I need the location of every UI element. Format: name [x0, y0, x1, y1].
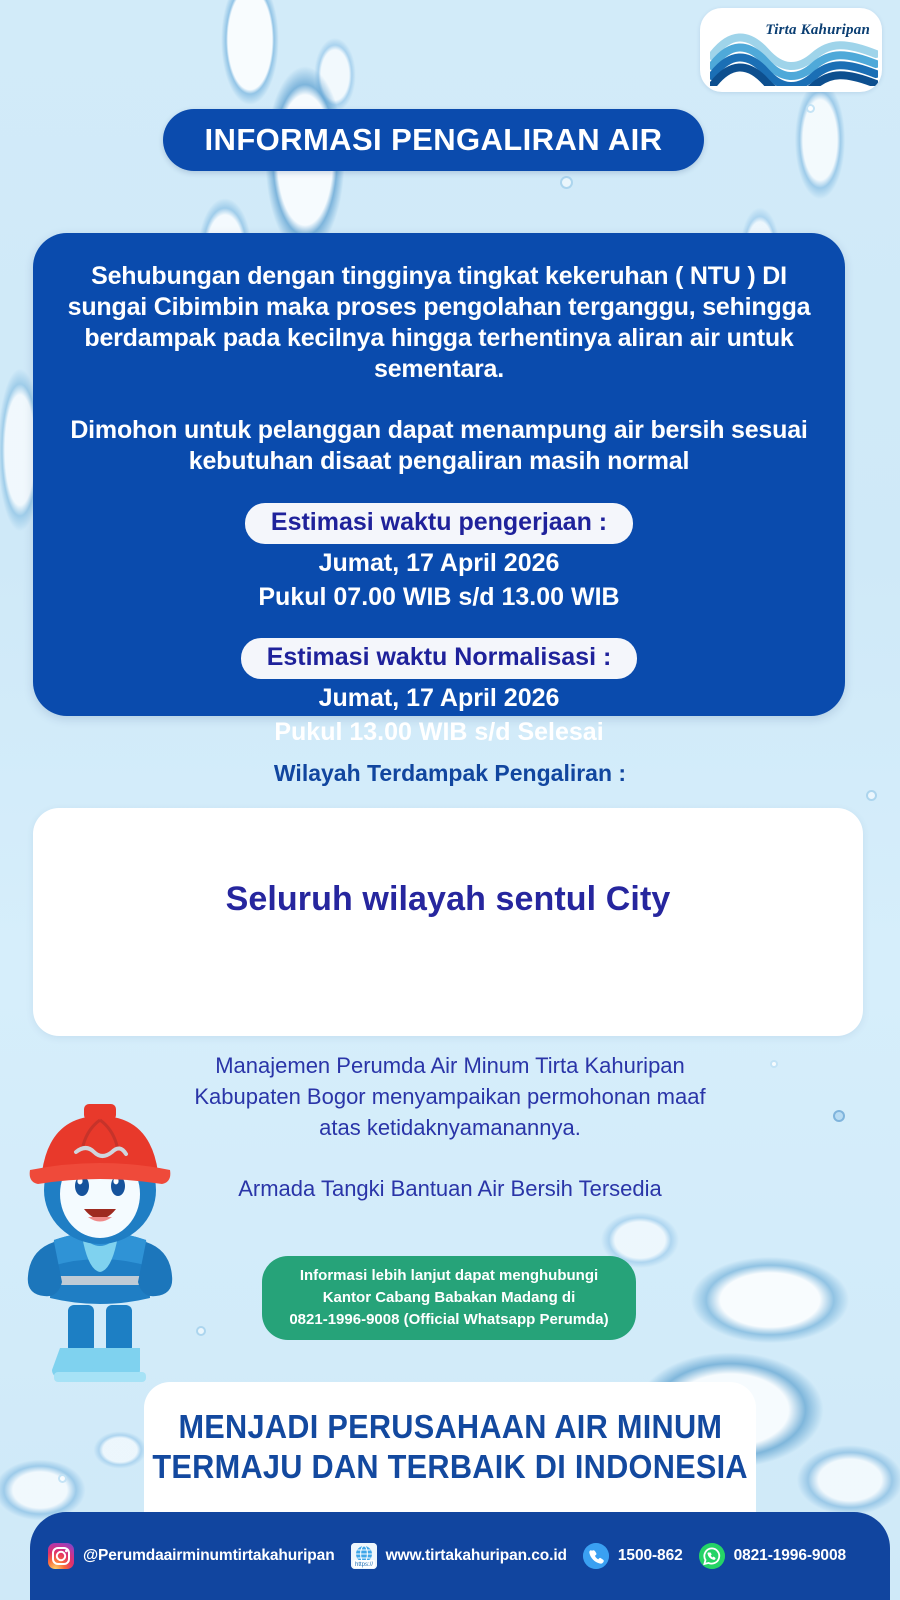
svg-text:https://: https://	[355, 1562, 373, 1568]
slogan-line-1: MENJADI PERUSAHAAN AIR MINUM	[178, 1407, 722, 1447]
instagram-handle: @Perumdaairminumtirtakahuripan	[83, 1547, 335, 1565]
slogan-line-2: TERMAJU DAN TERBAIK DI INDONESIA	[152, 1447, 747, 1487]
estimation-block-pengerjaan: Estimasi waktu pengerjaan : Jumat, 17 Ap…	[245, 503, 633, 612]
contact-box-line-1: Informasi lebih lanjut dapat menghubungi	[300, 1265, 598, 1287]
apology-line-1: Manajemen Perumda Air Minum Tirta Kahuri…	[120, 1050, 780, 1081]
instagram-icon	[48, 1543, 74, 1569]
estimation-date-normalisasi: Jumat, 17 April 2026	[319, 684, 560, 713]
phone-icon	[583, 1543, 609, 1569]
bubble-decoration	[806, 104, 815, 113]
bubble-decoration	[58, 1474, 67, 1483]
footer-website[interactable]: https:// www.tirtakahuripan.co.id	[351, 1543, 567, 1569]
phone-number: 1500-862	[618, 1547, 683, 1565]
header-banner: INFORMASI PENGALIRAN AIR	[163, 109, 704, 171]
notice-paragraph-2: Dimohon untuk pelanggan dapat menampung …	[67, 415, 811, 477]
bubble-decoration	[833, 1110, 845, 1122]
notice-card: Sehubungan dengan tingginya tingkat keke…	[33, 233, 845, 716]
company-logo: Tirta Kahuripan	[700, 8, 882, 92]
logo-wordmark: Tirta Kahuripan	[765, 22, 870, 39]
estimation-label-pengerjaan: Estimasi waktu pengerjaan :	[245, 503, 633, 544]
affected-area-value: Seluruh wilayah sentul City	[226, 880, 671, 919]
footer-instagram[interactable]: @Perumdaairminumtirtakahuripan	[48, 1543, 335, 1569]
footer-contact-bar: @Perumdaairminumtirtakahuripan https:// …	[30, 1512, 890, 1600]
estimation-time-pengerjaan: Pukul 07.00 WIB s/d 13.00 WIB	[258, 583, 619, 612]
affected-area-heading: Wilayah Terdampak Pengaliran :	[0, 760, 900, 787]
website-url: www.tirtakahuripan.co.id	[386, 1547, 567, 1565]
apology-text: Manajemen Perumda Air Minum Tirta Kahuri…	[120, 1050, 780, 1144]
globe-icon: https://	[351, 1543, 377, 1569]
footer-whatsapp[interactable]: 0821-1996-9008	[699, 1543, 846, 1569]
bubble-decoration	[196, 1326, 206, 1336]
contact-info-box[interactable]: Informasi lebih lanjut dapat menghubungi…	[262, 1256, 636, 1340]
bubble-decoration	[560, 176, 573, 189]
affected-area-card: Seluruh wilayah sentul City	[33, 808, 863, 1036]
footer-phone[interactable]: 1500-862	[583, 1543, 683, 1569]
armada-availability-text: Armada Tangki Bantuan Air Bersih Tersedi…	[120, 1176, 780, 1202]
estimation-date-pengerjaan: Jumat, 17 April 2026	[319, 549, 560, 578]
estimation-label-normalisasi: Estimasi waktu Normalisasi :	[241, 638, 638, 679]
apology-line-3: atas ketidaknyamanannya.	[120, 1112, 780, 1143]
contact-box-line-2: Kantor Cabang Babakan Madang di	[323, 1287, 576, 1309]
slogan-card: MENJADI PERUSAHAAN AIR MINUM TERMAJU DAN…	[144, 1382, 756, 1520]
estimation-block-normalisasi: Estimasi waktu Normalisasi : Jumat, 17 A…	[241, 638, 638, 747]
bubble-decoration	[866, 790, 877, 801]
contact-box-line-3: 0821-1996-9008 (Official Whatsapp Perumd…	[289, 1309, 608, 1331]
apology-line-2: Kabupaten Bogor menyampaikan permohonan …	[120, 1081, 780, 1112]
mascot-character	[10, 1090, 190, 1390]
whatsapp-number: 0821-1996-9008	[734, 1547, 846, 1565]
whatsapp-icon	[699, 1543, 725, 1569]
notice-paragraph-1: Sehubungan dengan tingginya tingkat keke…	[67, 261, 811, 385]
estimation-time-normalisasi: Pukul 13.00 WIB s/d Selesai	[274, 718, 603, 747]
page-title: INFORMASI PENGALIRAN AIR	[205, 122, 663, 158]
poster-canvas: Tirta Kahuripan INFORMASI PENGALIRAN AIR…	[0, 0, 900, 1600]
